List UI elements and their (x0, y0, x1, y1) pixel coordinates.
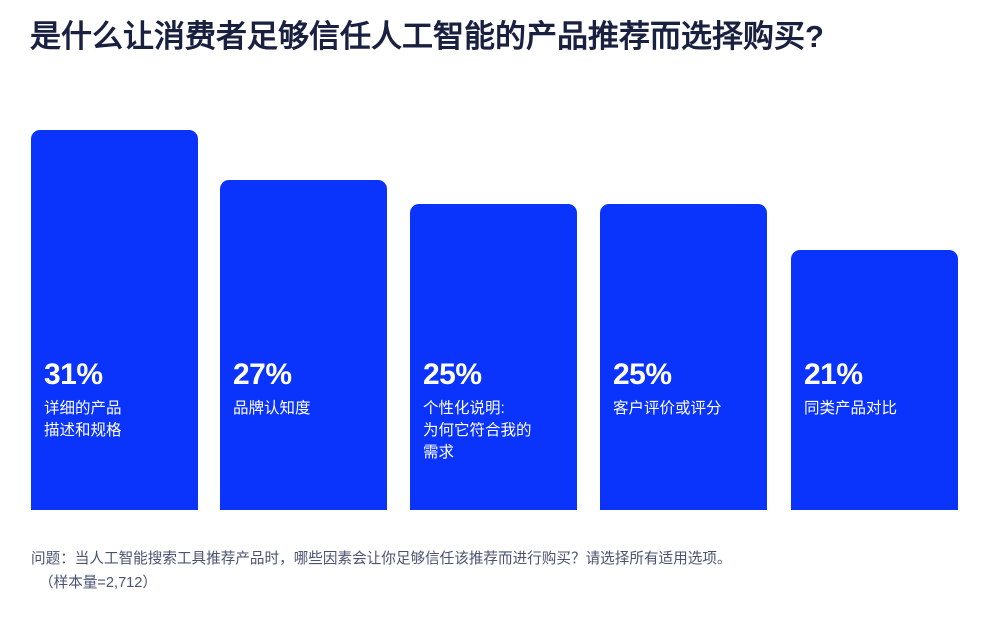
bar-group-3[interactable]: 25% 客户评价或评分 (600, 110, 767, 510)
bar-content-2: 25% 个性化说明: 为何它符合我的 需求 (423, 360, 567, 510)
bar-content-3: 25% 客户评价或评分 (613, 360, 757, 510)
bar-group-1[interactable]: 27% 品牌认知度 (220, 110, 387, 510)
bar-4[interactable]: 21% 同类产品对比 (791, 250, 958, 510)
chart-title: 是什么让消费者足够信任人工智能的产品推荐而选择购买? (30, 18, 990, 57)
bar-group-2[interactable]: 25% 个性化说明: 为何它符合我的 需求 (410, 110, 577, 510)
bar-value-0: 31% (44, 360, 188, 390)
bar-content-4: 21% 同类产品对比 (804, 360, 948, 510)
bar-content-0: 31% 详细的产品 描述和规格 (44, 360, 188, 510)
bar-label-0: 详细的产品 描述和规格 (44, 398, 188, 442)
footnote-question: 问题：当人工智能搜索工具推荐产品时，哪些因素会让你足够信任该推荐而进行购买？请选… (31, 548, 976, 572)
bar-value-4: 21% (804, 360, 948, 390)
bar-value-1: 27% (233, 360, 377, 390)
chart-container: 是什么让消费者足够信任人工智能的产品推荐而选择购买? 31% 详细的产品 描述和… (0, 0, 1000, 620)
bar-plot-area: 31% 详细的产品 描述和规格 27% 品牌认知度 25% 个性化说明: 为何它… (31, 110, 961, 510)
bar-group-0[interactable]: 31% 详细的产品 描述和规格 (31, 110, 198, 510)
bar-group-4[interactable]: 21% 同类产品对比 (791, 110, 958, 510)
bar-label-3: 客户评价或评分 (613, 398, 757, 420)
bar-3[interactable]: 25% 客户评价或评分 (600, 204, 767, 510)
bar-label-4: 同类产品对比 (804, 398, 948, 420)
bar-1[interactable]: 27% 品牌认知度 (220, 180, 387, 510)
bar-0[interactable]: 31% 详细的产品 描述和规格 (31, 130, 198, 510)
bar-2[interactable]: 25% 个性化说明: 为何它符合我的 需求 (410, 204, 577, 510)
bar-content-1: 27% 品牌认知度 (233, 360, 377, 510)
bar-value-2: 25% (423, 360, 567, 390)
bar-label-1: 品牌认知度 (233, 398, 377, 420)
chart-footnote: 问题：当人工智能搜索工具推荐产品时，哪些因素会让你足够信任该推荐而进行购买？请选… (31, 548, 976, 595)
footnote-sample-size: （样本量=2,712） (31, 572, 976, 596)
bar-label-2: 个性化说明: 为何它符合我的 需求 (423, 398, 567, 464)
bar-value-3: 25% (613, 360, 757, 390)
